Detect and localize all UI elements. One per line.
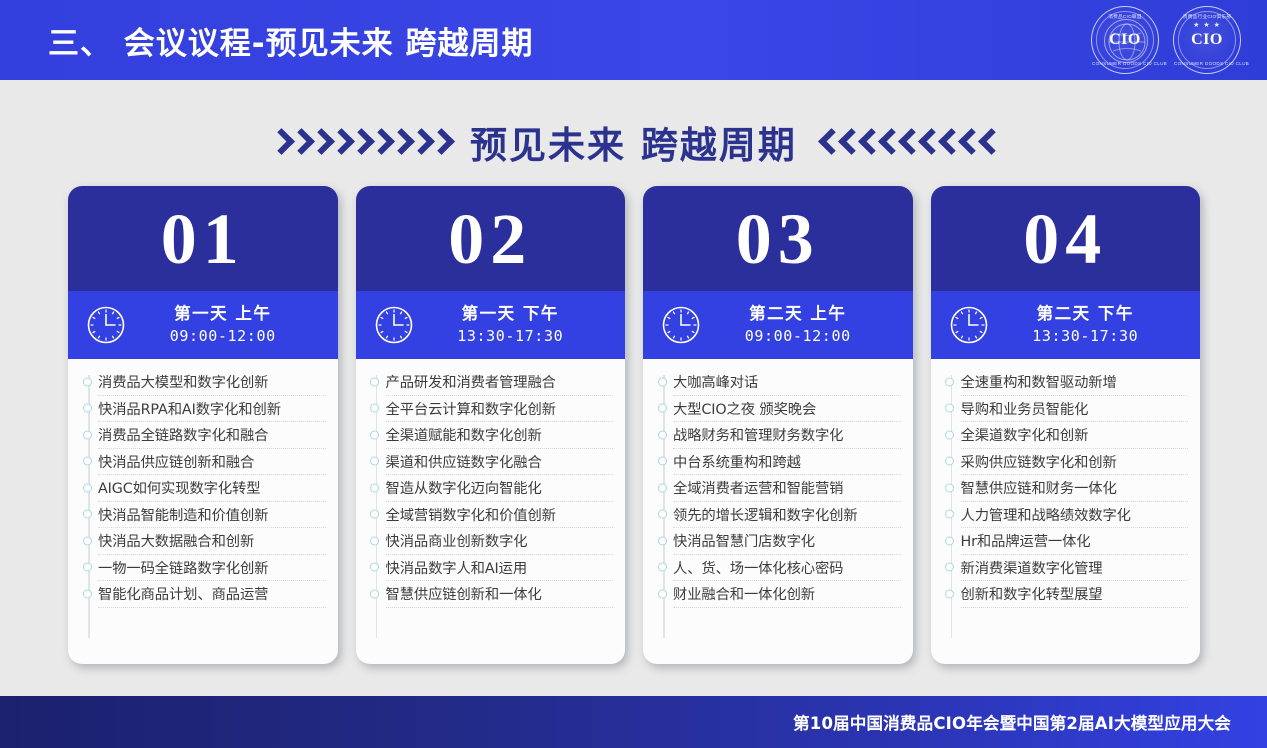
agenda-item-label: 大咖高峰对话 bbox=[673, 371, 758, 392]
clock-icon bbox=[86, 305, 126, 345]
card-agenda-list: 全速重构和数智驱动新增 导购和业务员智能化 全渠道数字化和创新 采购供应链数字化… bbox=[931, 359, 1201, 664]
chevron-left-group bbox=[819, 127, 997, 157]
bullet-circle-icon bbox=[658, 457, 667, 466]
bullet-circle-icon bbox=[83, 483, 92, 492]
card-day-label: 第二天 上午 bbox=[701, 304, 895, 325]
card-number-banner: 03 bbox=[643, 186, 913, 291]
bullet-circle-icon bbox=[658, 536, 667, 545]
bullet-circle-icon bbox=[945, 483, 954, 492]
card-time-range-label: 09:00-12:00 bbox=[126, 327, 320, 346]
card-time-banner: 第二天 上午 09:00-12:00 bbox=[643, 291, 913, 359]
card-day-label: 第一天 下午 bbox=[414, 304, 608, 325]
chevron-right-icon bbox=[350, 127, 368, 157]
china-cio-club-logo: 消费品行业CIO俱乐部 ★ ★ ★ CIO CONSUMER GOODS CIO… bbox=[1173, 6, 1241, 74]
clock-icon bbox=[949, 305, 989, 345]
card-number-banner: 02 bbox=[356, 186, 626, 291]
agenda-card-01[interactable]: 01 第一天 上午 09:00-12:00 消费品大模型和数字化创新 快消品RP… bbox=[68, 186, 338, 664]
bullet-circle-icon bbox=[370, 430, 379, 439]
logo-ring-bottom-text: CONSUMER GOODS CIO CLUB bbox=[1174, 61, 1240, 66]
agenda-item-label: 智慧供应链创新和一体化 bbox=[386, 583, 542, 604]
clock-svg bbox=[661, 305, 701, 345]
bullet-circle-icon bbox=[370, 457, 379, 466]
agenda-card-03[interactable]: 03 第二天 上午 09:00-12:00 大咖高峰对话 大型CIO之夜 颁奖晚… bbox=[643, 186, 913, 664]
bullet-circle-icon bbox=[658, 404, 667, 413]
agenda-item-label: 导购和业务员智能化 bbox=[961, 398, 1089, 419]
card-time-text-group: 第二天 上午 09:00-12:00 bbox=[701, 304, 901, 346]
chevron-right-icon bbox=[370, 127, 388, 157]
logo-ring-bottom-text: CONSUMER GOODS CIO CLUB bbox=[1092, 61, 1158, 66]
bullet-circle-icon bbox=[83, 510, 92, 519]
chevron-right-icon bbox=[390, 127, 408, 157]
chevron-left-icon bbox=[879, 127, 897, 157]
agenda-list-item[interactable]: 快消品数字人和AI运用 bbox=[386, 555, 614, 582]
agenda-item-label: 智能化商品计划、商品运营 bbox=[98, 583, 268, 604]
china-cio-globe-logo: 消费品CIO联盟 CIO CONSUMER GOODS CIO CLUB bbox=[1091, 6, 1159, 74]
bullet-circle-icon bbox=[83, 589, 92, 598]
bullet-circle-icon bbox=[945, 536, 954, 545]
agenda-list-item[interactable]: 大咖高峰对话 bbox=[673, 369, 901, 396]
agenda-item-label: 全速重构和数智驱动新增 bbox=[961, 371, 1117, 392]
chevron-left-icon bbox=[839, 127, 857, 157]
agenda-list-item[interactable]: 人、货、场一体化核心密码 bbox=[673, 555, 901, 582]
agenda-item-label: 战略财务和管理财务数字化 bbox=[673, 424, 843, 445]
card-time-range-label: 13:30-17:30 bbox=[414, 327, 608, 346]
agenda-list-item[interactable]: Hr和品牌运营一体化 bbox=[961, 528, 1189, 555]
bullet-circle-icon bbox=[945, 563, 954, 572]
bullet-circle-icon bbox=[658, 430, 667, 439]
bullet-circle-icon bbox=[658, 589, 667, 598]
card-time-banner: 第一天 上午 09:00-12:00 bbox=[68, 291, 338, 359]
agenda-item-label: 快消品供应链创新和融合 bbox=[98, 451, 254, 472]
agenda-item-label: 全平台云计算和数字化创新 bbox=[386, 398, 556, 419]
agenda-list-item[interactable]: 消费品全链路数字化和融合 bbox=[98, 422, 326, 449]
chevron-right-group bbox=[270, 127, 448, 157]
chevron-right-icon bbox=[330, 127, 348, 157]
agenda-list-item[interactable]: 快消品供应链创新和融合 bbox=[98, 449, 326, 476]
bullet-circle-icon bbox=[83, 430, 92, 439]
banner-title: 预见未来 跨越周期 bbox=[470, 115, 797, 169]
agenda-item-label: 快消品大数据融合和创新 bbox=[98, 530, 254, 551]
agenda-item-label: 全域营销数字化和价值创新 bbox=[386, 504, 556, 525]
agenda-list-item[interactable]: 人力管理和战略绩效数字化 bbox=[961, 502, 1189, 529]
clock-icon bbox=[661, 305, 701, 345]
agenda-item-label: 新消费渠道数字化管理 bbox=[961, 557, 1103, 578]
stars-icon: ★ ★ ★ bbox=[1174, 21, 1240, 29]
chevron-left-icon bbox=[899, 127, 917, 157]
agenda-item-label: 一物一码全链路数字化创新 bbox=[98, 557, 268, 578]
agenda-item-label: 产品研发和消费者管理融合 bbox=[386, 371, 556, 392]
chevron-left-icon bbox=[919, 127, 937, 157]
agenda-list-item[interactable]: 快消品RPA和AI数字化和创新 bbox=[98, 396, 326, 423]
agenda-card-02[interactable]: 02 第一天 下午 13:30-17:30 产品研发和消费者管理融合 全平台云计… bbox=[356, 186, 626, 664]
card-number-text: 01 bbox=[161, 203, 245, 275]
agenda-item-label: AIGC如何实现数字化转型 bbox=[98, 477, 260, 498]
card-time-banner: 第一天 下午 13:30-17:30 bbox=[356, 291, 626, 359]
chevron-right-icon bbox=[290, 127, 308, 157]
card-day-label: 第一天 上午 bbox=[126, 304, 320, 325]
agenda-list-item[interactable]: 消费品大模型和数字化创新 bbox=[98, 369, 326, 396]
agenda-list-item[interactable]: 创新和数字化转型展望 bbox=[961, 581, 1189, 608]
bullet-circle-icon bbox=[658, 377, 667, 386]
agenda-list-item[interactable]: 智慧供应链创新和一体化 bbox=[386, 581, 614, 608]
agenda-list-item[interactable]: 快消品大数据融合和创新 bbox=[98, 528, 326, 555]
bullet-circle-icon bbox=[370, 404, 379, 413]
agenda-list-item[interactable]: 大型CIO之夜 颁奖晚会 bbox=[673, 396, 901, 423]
card-number-text: 04 bbox=[1023, 203, 1107, 275]
agenda-item-label: 智慧供应链和财务一体化 bbox=[961, 477, 1117, 498]
bullet-circle-icon bbox=[83, 563, 92, 572]
agenda-item-label: 快消品数字人和AI运用 bbox=[386, 557, 528, 578]
agenda-item-label: 采购供应链数字化和创新 bbox=[961, 451, 1117, 472]
page-footer: 第10届中国消费品CIO年会暨中国第2届AI大模型应用大会 bbox=[0, 696, 1267, 748]
agenda-item-label: 消费品大模型和数字化创新 bbox=[98, 371, 268, 392]
agenda-list-item[interactable]: 智能化商品计划、商品运营 bbox=[98, 581, 326, 608]
bullet-circle-icon bbox=[370, 377, 379, 386]
logo-ring-top-text: 消费品行业CIO俱乐部 bbox=[1174, 14, 1240, 20]
bullet-circle-icon bbox=[83, 457, 92, 466]
agenda-item-label: 快消品智慧门店数字化 bbox=[673, 530, 815, 551]
chevron-right-icon bbox=[410, 127, 428, 157]
card-agenda-list: 大咖高峰对话 大型CIO之夜 颁奖晚会 战略财务和管理财务数字化 中台系统重构和… bbox=[643, 359, 913, 664]
chevron-left-icon bbox=[819, 127, 837, 157]
agenda-list-item[interactable]: 快消品智慧门店数字化 bbox=[673, 528, 901, 555]
agenda-list-item[interactable]: 渠道和供应链数字化融合 bbox=[386, 449, 614, 476]
page-title: 三、 会议议程-预见未来 跨越周期 bbox=[48, 18, 533, 63]
logo-core-text: CIO bbox=[1109, 31, 1141, 49]
bullet-circle-icon bbox=[370, 536, 379, 545]
card-time-text-group: 第二天 下午 13:30-17:30 bbox=[989, 304, 1189, 346]
agenda-card-04[interactable]: 04 第二天 下午 13:30-17:30 全速重构和数智驱动新增 导购和业务员… bbox=[931, 186, 1201, 664]
agenda-list-item[interactable]: 智造从数字化迈向智能化 bbox=[386, 475, 614, 502]
agenda-list-item[interactable]: 领先的增长逻辑和数字化创新 bbox=[673, 502, 901, 529]
clock-svg bbox=[949, 305, 989, 345]
agenda-list-item[interactable]: AIGC如何实现数字化转型 bbox=[98, 475, 326, 502]
agenda-list-item[interactable]: 采购供应链数字化和创新 bbox=[961, 449, 1189, 476]
bullet-circle-icon bbox=[370, 563, 379, 572]
agenda-list-item[interactable]: 全域营销数字化和价值创新 bbox=[386, 502, 614, 529]
clock-svg bbox=[86, 305, 126, 345]
header-logo-group: 消费品CIO联盟 CIO CONSUMER GOODS CIO CLUB 消费品… bbox=[1091, 6, 1241, 74]
agenda-list-item[interactable]: 产品研发和消费者管理融合 bbox=[386, 369, 614, 396]
agenda-item-label: 大型CIO之夜 颁奖晚会 bbox=[673, 398, 816, 419]
card-time-text-group: 第一天 上午 09:00-12:00 bbox=[126, 304, 326, 346]
card-number-text: 03 bbox=[736, 203, 820, 275]
agenda-list-item[interactable]: 财业融合和一体化创新 bbox=[673, 581, 901, 608]
agenda-list-item[interactable]: 导购和业务员智能化 bbox=[961, 396, 1189, 423]
agenda-item-label: 快消品商业创新数字化 bbox=[386, 530, 528, 551]
bullet-circle-icon bbox=[945, 589, 954, 598]
bullet-circle-icon bbox=[370, 483, 379, 492]
bullet-circle-icon bbox=[945, 457, 954, 466]
bullet-circle-icon bbox=[945, 377, 954, 386]
chevron-left-icon bbox=[939, 127, 957, 157]
bullet-circle-icon bbox=[83, 536, 92, 545]
card-time-banner: 第二天 下午 13:30-17:30 bbox=[931, 291, 1201, 359]
agenda-item-label: 全渠道数字化和创新 bbox=[961, 424, 1089, 445]
footer-title: 第10届中国消费品CIO年会暨中国第2届AI大模型应用大会 bbox=[793, 710, 1231, 734]
agenda-item-label: 快消品RPA和AI数字化和创新 bbox=[98, 398, 281, 419]
agenda-item-label: 快消品智能制造和价值创新 bbox=[98, 504, 268, 525]
agenda-list-item[interactable]: 全渠道赋能和数字化创新 bbox=[386, 422, 614, 449]
agenda-list-item[interactable]: 新消费渠道数字化管理 bbox=[961, 555, 1189, 582]
card-agenda-list: 产品研发和消费者管理融合 全平台云计算和数字化创新 全渠道赋能和数字化创新 渠道… bbox=[356, 359, 626, 664]
card-number-banner: 04 bbox=[931, 186, 1201, 291]
agenda-list-item[interactable]: 快消品商业创新数字化 bbox=[386, 528, 614, 555]
bullet-circle-icon bbox=[83, 404, 92, 413]
agenda-list-item[interactable]: 一物一码全链路数字化创新 bbox=[98, 555, 326, 582]
agenda-item-label: 智造从数字化迈向智能化 bbox=[386, 477, 542, 498]
page-header: 三、 会议议程-预见未来 跨越周期 消费品CIO联盟 CIO CONSUMER … bbox=[0, 0, 1267, 80]
bullet-circle-icon bbox=[658, 510, 667, 519]
bullet-circle-icon bbox=[658, 563, 667, 572]
card-time-text-group: 第一天 下午 13:30-17:30 bbox=[414, 304, 614, 346]
agenda-item-label: 人、货、场一体化核心密码 bbox=[673, 557, 843, 578]
agenda-card-list: 01 第一天 上午 09:00-12:00 消费品大模型和数字化创新 快消品RP… bbox=[68, 186, 1200, 664]
card-agenda-list: 消费品大模型和数字化创新 快消品RPA和AI数字化和创新 消费品全链路数字化和融… bbox=[68, 359, 338, 664]
agenda-list-item[interactable]: 全平台云计算和数字化创新 bbox=[386, 396, 614, 423]
bullet-circle-icon bbox=[658, 483, 667, 492]
bullet-circle-icon bbox=[83, 377, 92, 386]
card-time-range-label: 13:30-17:30 bbox=[989, 327, 1183, 346]
bullet-circle-icon bbox=[945, 430, 954, 439]
agenda-item-label: 全域消费者运营和智能营销 bbox=[673, 477, 843, 498]
agenda-item-label: 中台系统重构和跨越 bbox=[673, 451, 801, 472]
chevron-right-icon bbox=[270, 127, 288, 157]
agenda-item-label: 创新和数字化转型展望 bbox=[961, 583, 1103, 604]
agenda-list-item[interactable]: 智慧供应链和财务一体化 bbox=[961, 475, 1189, 502]
agenda-list-item[interactable]: 中台系统重构和跨越 bbox=[673, 449, 901, 476]
bullet-circle-icon bbox=[945, 510, 954, 519]
agenda-list-item[interactable]: 战略财务和管理财务数字化 bbox=[673, 422, 901, 449]
bullet-circle-icon bbox=[370, 589, 379, 598]
agenda-list-item[interactable]: 全渠道数字化和创新 bbox=[961, 422, 1189, 449]
chevron-right-icon bbox=[430, 127, 448, 157]
agenda-item-label: 人力管理和战略绩效数字化 bbox=[961, 504, 1131, 525]
agenda-item-label: 消费品全链路数字化和融合 bbox=[98, 424, 268, 445]
clock-icon bbox=[374, 305, 414, 345]
chevron-right-icon bbox=[310, 127, 328, 157]
clock-svg bbox=[374, 305, 414, 345]
agenda-list-item[interactable]: 快消品智能制造和价值创新 bbox=[98, 502, 326, 529]
chevron-left-icon bbox=[859, 127, 877, 157]
agenda-item-label: 渠道和供应链数字化融合 bbox=[386, 451, 542, 472]
card-day-label: 第二天 下午 bbox=[989, 304, 1183, 325]
card-number-banner: 01 bbox=[68, 186, 338, 291]
agenda-list-item[interactable]: 全速重构和数智驱动新增 bbox=[961, 369, 1189, 396]
logo-core-text: CIO bbox=[1191, 31, 1223, 49]
agenda-item-label: Hr和品牌运营一体化 bbox=[961, 530, 1091, 551]
agenda-item-label: 财业融合和一体化创新 bbox=[673, 583, 815, 604]
agenda-item-label: 领先的增长逻辑和数字化创新 bbox=[673, 504, 858, 525]
chevron-left-icon bbox=[979, 127, 997, 157]
agenda-list-item[interactable]: 全域消费者运营和智能营销 bbox=[673, 475, 901, 502]
bullet-circle-icon bbox=[945, 404, 954, 413]
bullet-circle-icon bbox=[370, 510, 379, 519]
card-number-text: 02 bbox=[448, 203, 532, 275]
card-time-range-label: 09:00-12:00 bbox=[701, 327, 895, 346]
chevron-left-icon bbox=[959, 127, 977, 157]
banner: 预见未来 跨越周期 bbox=[0, 112, 1267, 172]
agenda-item-label: 全渠道赋能和数字化创新 bbox=[386, 424, 542, 445]
